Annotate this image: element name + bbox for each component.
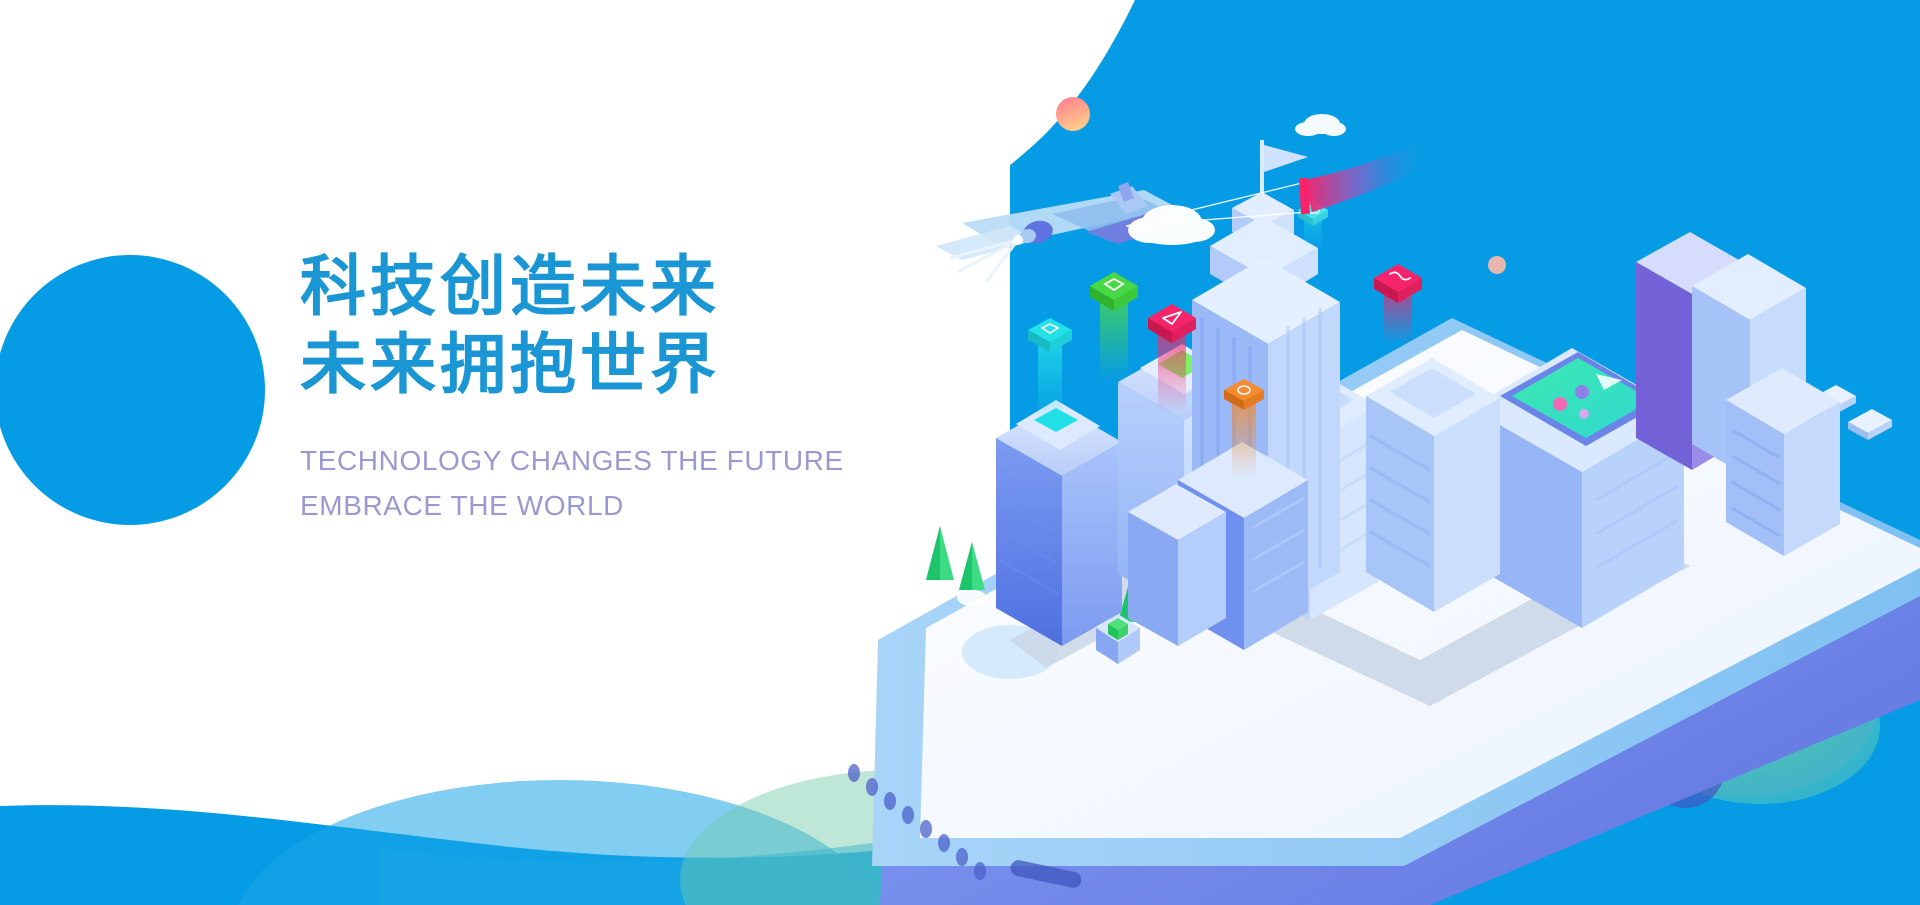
indigo-blob [1645, 728, 1725, 808]
banner-copy: 科技创造未来 未来拥抱世界 TECHNOLOGY CHANGES THE FUT… [300, 248, 1000, 528]
blue-circle-decoration [0, 255, 265, 525]
subtitle-line-1: TECHNOLOGY CHANGES THE FUTURE [300, 438, 1000, 483]
hero-banner: 科技创造未来 未来拥抱世界 TECHNOLOGY CHANGES THE FUT… [0, 0, 1920, 905]
subtitle-line-2: EMBRACE THE WORLD [300, 483, 1000, 528]
headline-line-1: 科技创造未来 [300, 248, 1000, 326]
headline-line-2: 未来拥抱世界 [300, 326, 1000, 404]
